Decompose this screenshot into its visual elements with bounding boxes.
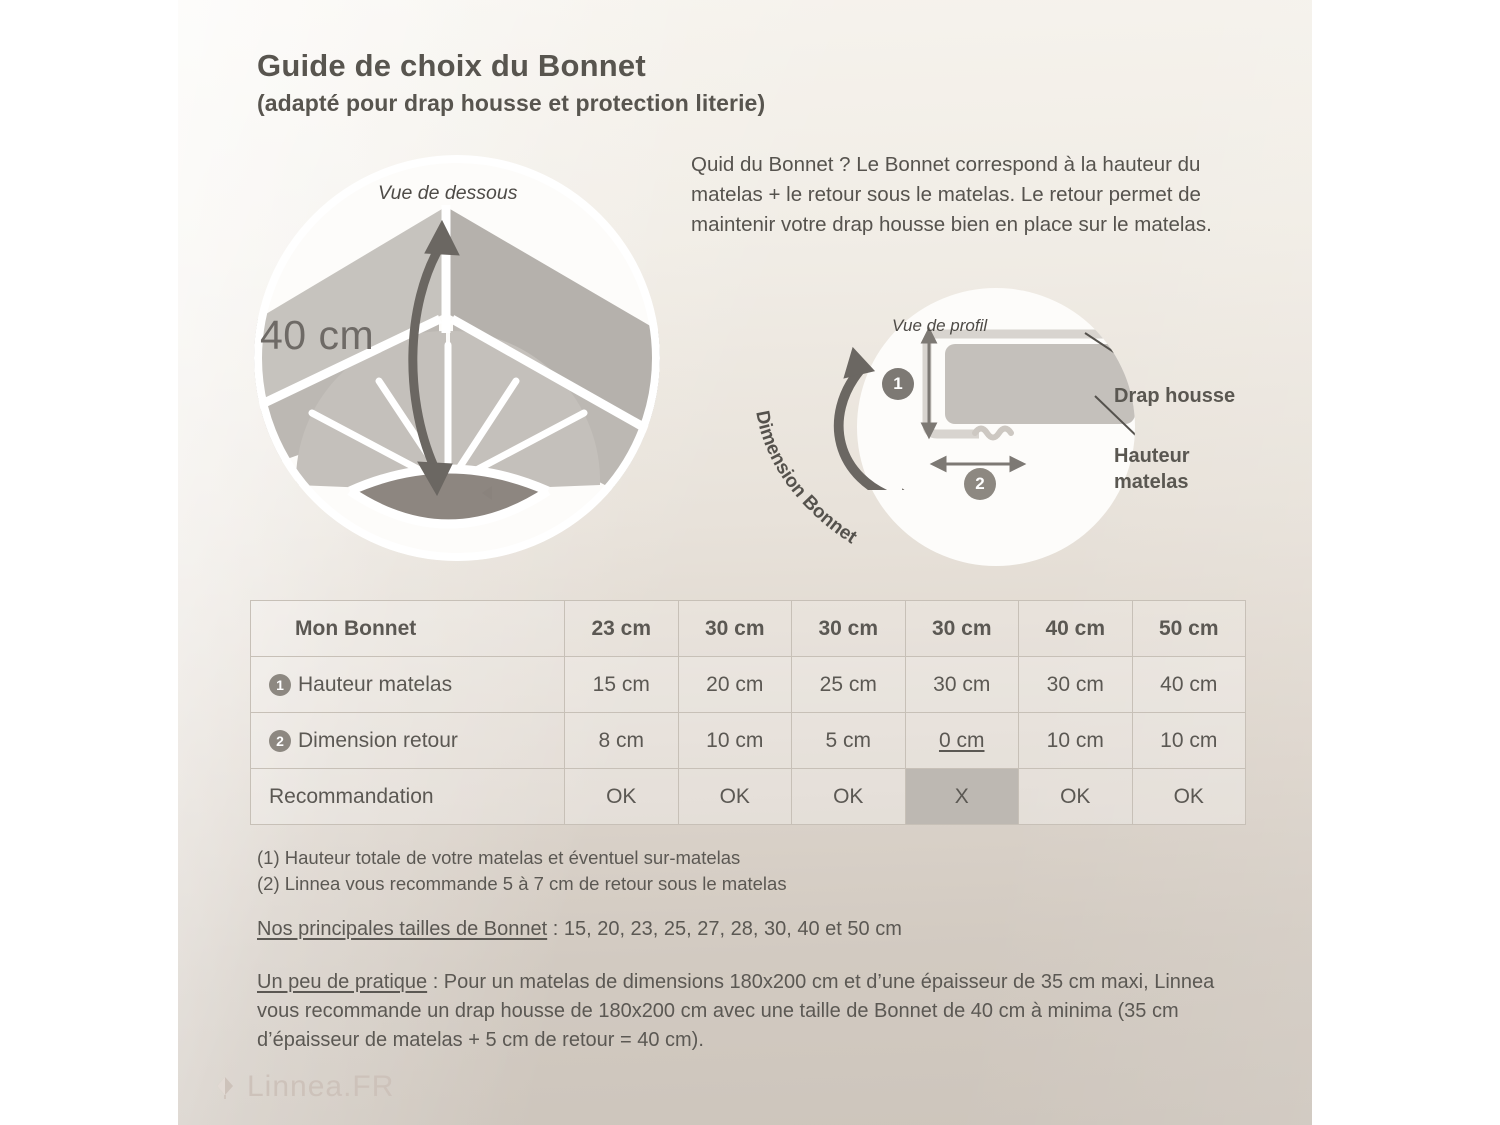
table-cell-bonnet-0: 23 cm [565, 601, 679, 657]
profile-view-caption: Vue de profil [892, 316, 987, 336]
table-cell-reco-5: OK [1132, 769, 1246, 825]
table-row-mattress-height: 1Hauteur matelas 15 cm 20 cm 25 cm 30 cm… [251, 657, 1246, 713]
table-row-recommendation: Recommandation OK OK OK X OK OK [251, 769, 1246, 825]
sizes-value: : 15, 20, 23, 25, 27, 28, 30, 40 et 50 c… [547, 918, 902, 940]
marker-1-label: 1 [882, 368, 914, 400]
footnote-1: (1) Hauteur totale de votre matelas et é… [257, 845, 787, 871]
table-cell-return-1: 10 cm [678, 713, 792, 769]
table-cell-height-5: 40 cm [1132, 657, 1246, 713]
return-value-0: 8 cm [598, 729, 644, 752]
callout-hauteur-matelas: Hauteur matelas [1114, 443, 1190, 495]
table-cell-bonnet-4: 40 cm [1019, 601, 1133, 657]
logo: Linnea.FR [212, 1070, 394, 1104]
bonnet-size-table: Mon Bonnet 23 cm 30 cm 30 cm 30 cm 40 cm… [250, 600, 1246, 825]
table-cell-height-4: 30 cm [1019, 657, 1133, 713]
bonnet-dimension-label: Dimension Bonnet [751, 409, 861, 549]
table-label-mattress-height-text: Hauteur matelas [298, 673, 452, 696]
table-cell-bonnet-2: 30 cm [792, 601, 906, 657]
return-value-4: 10 cm [1047, 729, 1104, 752]
badge-2: 2 [269, 730, 291, 752]
badge-1: 1 [269, 674, 291, 696]
bottom-view-caption: Vue de dessous [378, 182, 518, 205]
table-cell-reco-4: OK [1019, 769, 1133, 825]
table-row-header: Mon Bonnet 23 cm 30 cm 30 cm 30 cm 40 cm… [251, 601, 1246, 657]
table-cell-height-1: 20 cm [678, 657, 792, 713]
intro-paragraph: Quid du Bonnet ? Le Bonnet correspond à … [691, 150, 1271, 240]
table-cell-reco-1: OK [678, 769, 792, 825]
sizes-label: Nos principales tailles de Bonnet [257, 918, 547, 940]
table-label-return-size-text: Dimension retour [298, 729, 458, 752]
table-cell-reco-2: OK [792, 769, 906, 825]
return-value-5: 10 cm [1160, 729, 1217, 752]
table-header-label: Mon Bonnet [251, 601, 565, 657]
table-label-return-size: 2Dimension retour [251, 713, 565, 769]
table-cell-return-5: 10 cm [1132, 713, 1246, 769]
practice-paragraph: Un peu de pratique : Pour un matelas de … [257, 968, 1247, 1055]
table-row-return-size: 2Dimension retour 8 cm 10 cm 5 cm 0 cm 1… [251, 713, 1246, 769]
leaf-diamond-icon [212, 1074, 238, 1100]
svg-text:Dimension Bonnet: Dimension Bonnet [751, 409, 861, 549]
callout-hauteur-line2: matelas [1114, 471, 1189, 493]
table-cell-bonnet-1: 30 cm [678, 601, 792, 657]
table-cell-height-2: 25 cm [792, 657, 906, 713]
infographic-canvas: Guide de choix du Bonnet (adapté pour dr… [0, 0, 1500, 1125]
footnotes: (1) Hauteur totale de votre matelas et é… [257, 845, 787, 897]
callout-drap-housse: Drap housse [1114, 383, 1235, 409]
height-measure-label: 40 cm [260, 312, 374, 359]
return-value-3: 0 cm [939, 729, 985, 752]
table-cell-bonnet-5: 50 cm [1132, 601, 1246, 657]
table-label-mattress-height: 1Hauteur matelas [251, 657, 565, 713]
table-cell-height-0: 15 cm [565, 657, 679, 713]
practice-label: Un peu de pratique [257, 971, 427, 993]
table-cell-reco-3: X [905, 769, 1019, 825]
table-cell-return-0: 8 cm [565, 713, 679, 769]
return-value-1: 10 cm [706, 729, 763, 752]
logo-text: Linnea.FR [247, 1070, 394, 1104]
footnote-2: (2) Linnea vous recommande 5 à 7 cm de r… [257, 871, 787, 897]
table-cell-return-4: 10 cm [1019, 713, 1133, 769]
table-cell-reco-0: OK [565, 769, 679, 825]
table-cell-return-3: 0 cm [905, 713, 1019, 769]
sizes-line: Nos principales tailles de Bonnet : 15, … [257, 918, 902, 941]
bonnet-dimension-label-arc: Dimension Bonnet [742, 400, 972, 580]
page-subtitle: (adapté pour drap housse et protection l… [257, 90, 765, 117]
table-cell-height-3: 30 cm [905, 657, 1019, 713]
page-title: Guide de choix du Bonnet [257, 48, 646, 84]
table-cell-bonnet-3: 30 cm [905, 601, 1019, 657]
table-cell-return-2: 5 cm [792, 713, 906, 769]
return-value-2: 5 cm [825, 729, 871, 752]
callout-hauteur-line1: Hauteur [1114, 445, 1190, 467]
table-label-recommendation: Recommandation [251, 769, 565, 825]
